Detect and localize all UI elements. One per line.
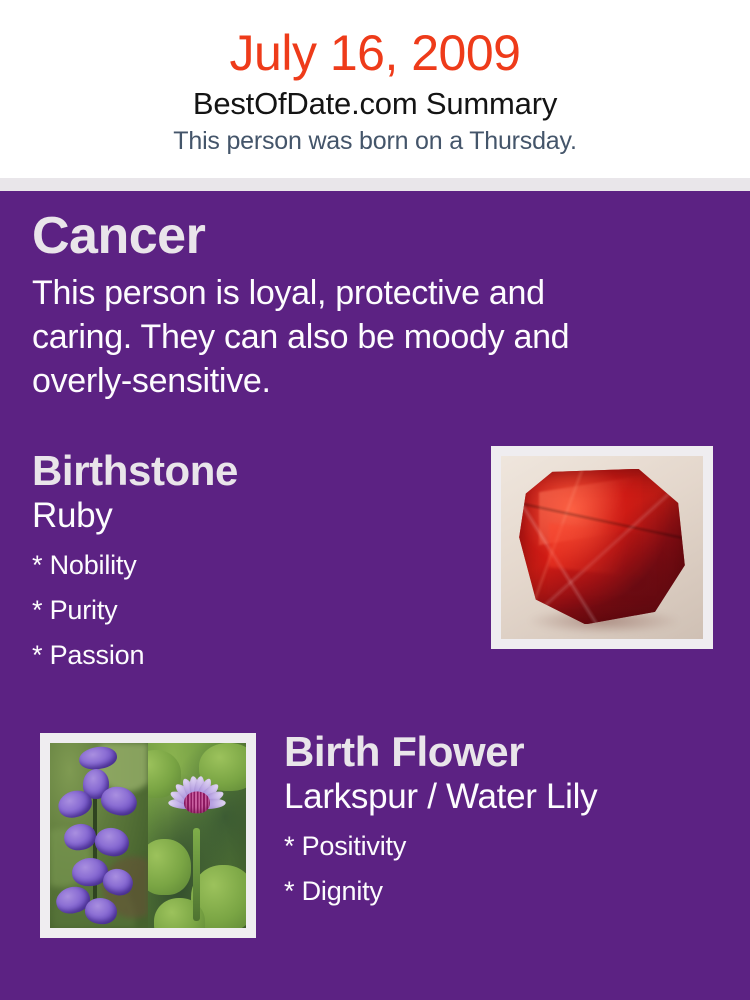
card-header: July 16, 2009 BestOfDate.com Summary Thi… [0, 0, 750, 178]
ruby-gemstone-image [501, 456, 703, 639]
lily-pad [148, 839, 191, 895]
lily-stamen-center [184, 792, 210, 814]
birth-flower-trait-list: * Positivity * Dignity [284, 824, 718, 914]
birthstone-section: Birthstone Ruby * Nobility * Purity * Pa… [32, 447, 718, 678]
birth-flower-image [50, 743, 246, 928]
list-item: * Dignity [284, 869, 718, 914]
birth-flower-text: Birth Flower Larkspur / Water Lily * Pos… [284, 728, 718, 914]
birthday-summary-card: July 16, 2009 BestOfDate.com Summary Thi… [0, 0, 750, 1000]
page-title: July 16, 2009 [0, 22, 750, 84]
born-day-text: This person was born on a Thursday. [0, 124, 750, 158]
birth-flower-section: Birth Flower Larkspur / Water Lily * Pos… [32, 728, 718, 943]
ruby-crystal [519, 469, 685, 625]
lily-stem [193, 828, 200, 921]
water-lily-image-half [148, 743, 246, 928]
birth-flower-name: Larkspur / Water Lily [284, 776, 718, 818]
list-item: * Positivity [284, 824, 718, 869]
ruby-facet-overlay [519, 469, 685, 625]
birth-flower-heading: Birth Flower [284, 728, 718, 776]
birthstone-photo-frame [491, 446, 713, 649]
site-subtitle: BestOfDate.com Summary [0, 84, 750, 124]
header-divider [0, 178, 750, 191]
larkspur-image-half [50, 743, 148, 928]
details-panel: Cancer This person is loyal, protective … [0, 191, 750, 1000]
zodiac-sign-name: Cancer [32, 191, 718, 265]
water-lily-bloom [158, 773, 236, 835]
birth-flower-photo-frame [40, 733, 256, 938]
zodiac-description: This person is loyal, protective and car… [32, 265, 652, 403]
